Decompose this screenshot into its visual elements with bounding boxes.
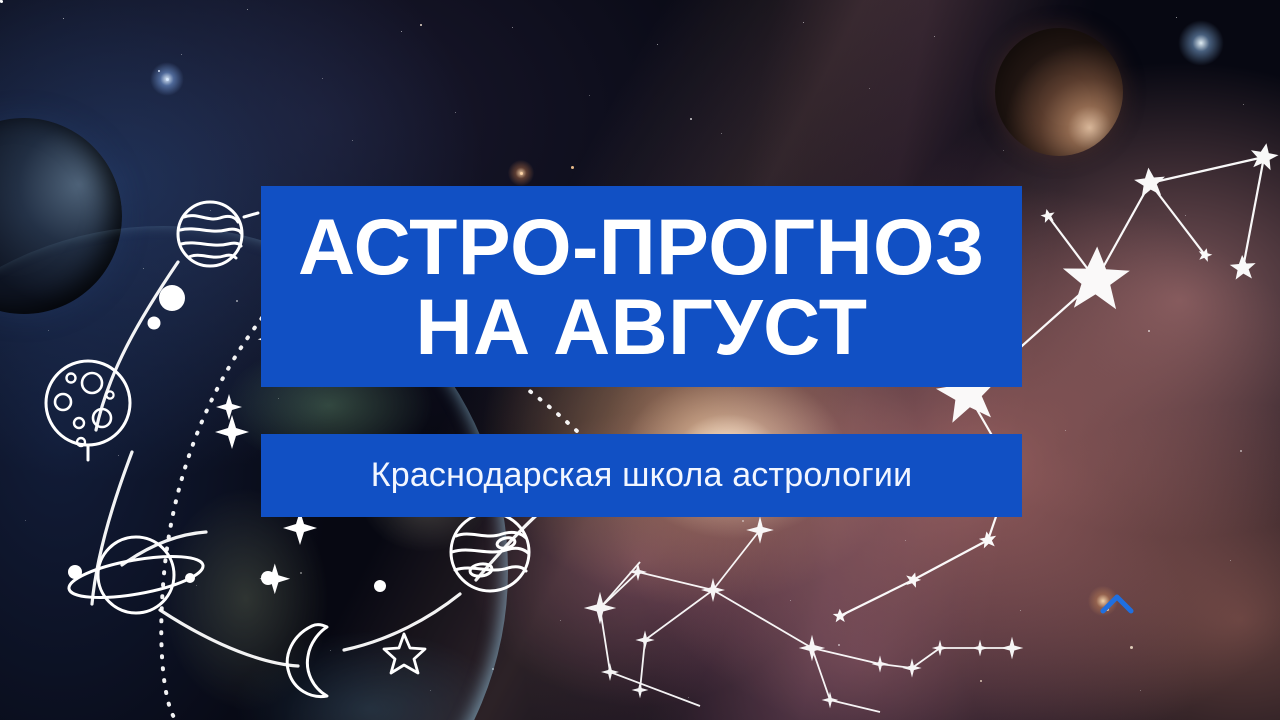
- page-title-line-1: АСТРО-ПРОГНОЗ: [298, 209, 985, 285]
- poster-canvas: АСТРО-ПРОГНОЗ НА АВГУСТ Краснодарская шк…: [0, 0, 1280, 720]
- outline-star: [384, 634, 425, 673]
- subtitle-text: Краснодарская школа астрологии: [371, 456, 913, 495]
- title-banner: АСТРО-ПРОГНОЗ НА АВГУСТ: [261, 186, 1022, 387]
- cratered-moon-planet: [46, 361, 130, 460]
- subtitle-banner: Краснодарская школа астрологии: [261, 434, 1022, 517]
- chevron-up-icon[interactable]: [1100, 592, 1134, 614]
- jupiter-striped-planet-bottom: [451, 513, 529, 591]
- saturn-ringed-planet: [66, 537, 206, 613]
- page-title-line-2: НА АВГУСТ: [416, 289, 868, 365]
- jupiter-striped-planet-top: [178, 202, 258, 266]
